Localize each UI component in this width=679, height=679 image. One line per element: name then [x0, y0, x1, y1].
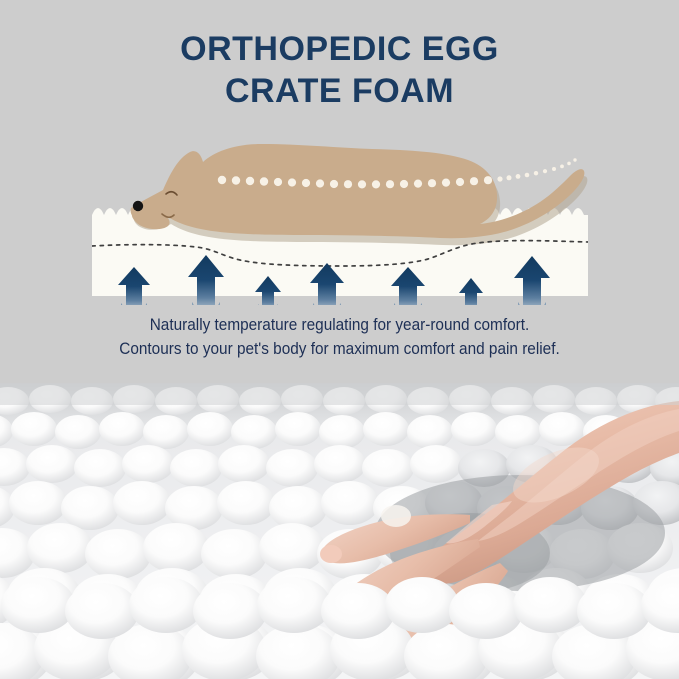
foam-photo: [0, 383, 679, 679]
foam-front-peaks: [0, 577, 679, 679]
dog-illustration: [131, 144, 585, 238]
benefit-line-2: Contours to your pet's body for maximum …: [24, 337, 655, 361]
page-title: ORTHOPEDIC EGG CRATE FOAM: [0, 28, 679, 112]
tail-dots: [497, 158, 576, 181]
benefit-copy: Naturally temperature regulating for yea…: [24, 313, 655, 361]
title-line-2: CRATE FOAM: [0, 70, 679, 112]
illustration-dog-on-foam: [0, 120, 679, 305]
top-info-panel: ORTHOPEDIC EGG CRATE FOAM: [0, 0, 679, 383]
product-infographic: ORTHOPEDIC EGG CRATE FOAM: [0, 0, 679, 679]
title-line-1: ORTHOPEDIC EGG: [0, 28, 679, 70]
benefit-line-1: Naturally temperature regulating for yea…: [24, 313, 655, 337]
dog-nose: [133, 201, 143, 211]
